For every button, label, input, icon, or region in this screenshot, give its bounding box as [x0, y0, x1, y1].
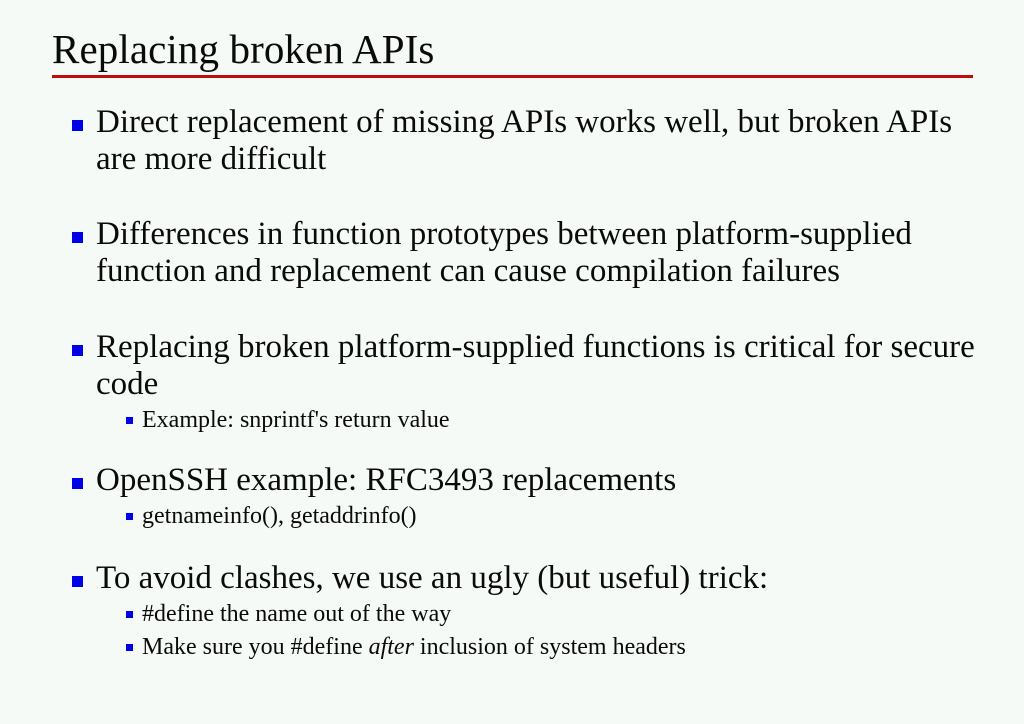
sub-bullet-square-icon [126, 644, 133, 651]
bullet-square-icon [72, 232, 83, 243]
slide: Replacing broken APIs Direct replacement… [0, 0, 1024, 724]
bullet-text: Differences in function prototypes betwe… [96, 216, 912, 289]
bullet-block: Direct replacement of missing APIs works… [0, 104, 1024, 178]
title-underline-rule [52, 75, 973, 78]
bullet-text: OpenSSH example: RFC3493 replacements [96, 462, 676, 498]
sub-list-item: Example: snprintf's return value [0, 405, 1024, 436]
list-item: Differences in function prototypes betwe… [0, 216, 1024, 290]
sub-bullet-text-post: inclusion of system headers [414, 634, 686, 660]
list-item: OpenSSH example: RFC3493 replacements [0, 462, 1024, 499]
bullet-text: To avoid clashes, we use an ugly (but us… [96, 560, 768, 596]
sub-list-item: getnameinfo(), getaddrinfo() [0, 501, 1024, 532]
sub-bullet-square-icon [126, 417, 133, 424]
bullet-text: Replacing broken platform-supplied funct… [96, 329, 975, 402]
bullet-square-icon [72, 478, 83, 489]
bullet-block: Differences in function prototypes betwe… [0, 216, 1024, 290]
sub-bullet-square-icon [126, 611, 133, 618]
sub-list-item: Make sure you #define after inclusion of… [0, 632, 1024, 663]
page-title: Replacing broken APIs [52, 26, 973, 72]
bullet-block: OpenSSH example: RFC3493 replacements ge… [0, 462, 1024, 532]
bullet-square-icon [72, 120, 83, 131]
sub-bullet-text-emphasis: after [369, 634, 414, 660]
sub-list-item: #define the name out of the way [0, 599, 1024, 630]
list-item: Replacing broken platform-supplied funct… [0, 329, 1024, 403]
bullet-square-icon [72, 576, 83, 587]
slide-title-area: Replacing broken APIs [52, 26, 973, 78]
slide-body: Direct replacement of missing APIs works… [0, 104, 1024, 663]
sub-bullet-text-pre: Make sure you #define [142, 634, 369, 660]
bullet-text: Direct replacement of missing APIs works… [96, 104, 952, 177]
bullet-square-icon [72, 345, 83, 356]
sub-bullet-text: Make sure you #define after inclusion of… [142, 634, 686, 660]
bullet-block: Replacing broken platform-supplied funct… [0, 329, 1024, 436]
list-item: Direct replacement of missing APIs works… [0, 104, 1024, 178]
bullet-block: To avoid clashes, we use an ugly (but us… [0, 560, 1024, 663]
sub-bullet-text: #define the name out of the way [142, 601, 451, 627]
sub-bullet-square-icon [126, 513, 133, 520]
sub-bullet-text: Example: snprintf's return value [142, 407, 450, 433]
sub-bullet-text: getnameinfo(), getaddrinfo() [142, 503, 417, 529]
list-item: To avoid clashes, we use an ugly (but us… [0, 560, 1024, 597]
